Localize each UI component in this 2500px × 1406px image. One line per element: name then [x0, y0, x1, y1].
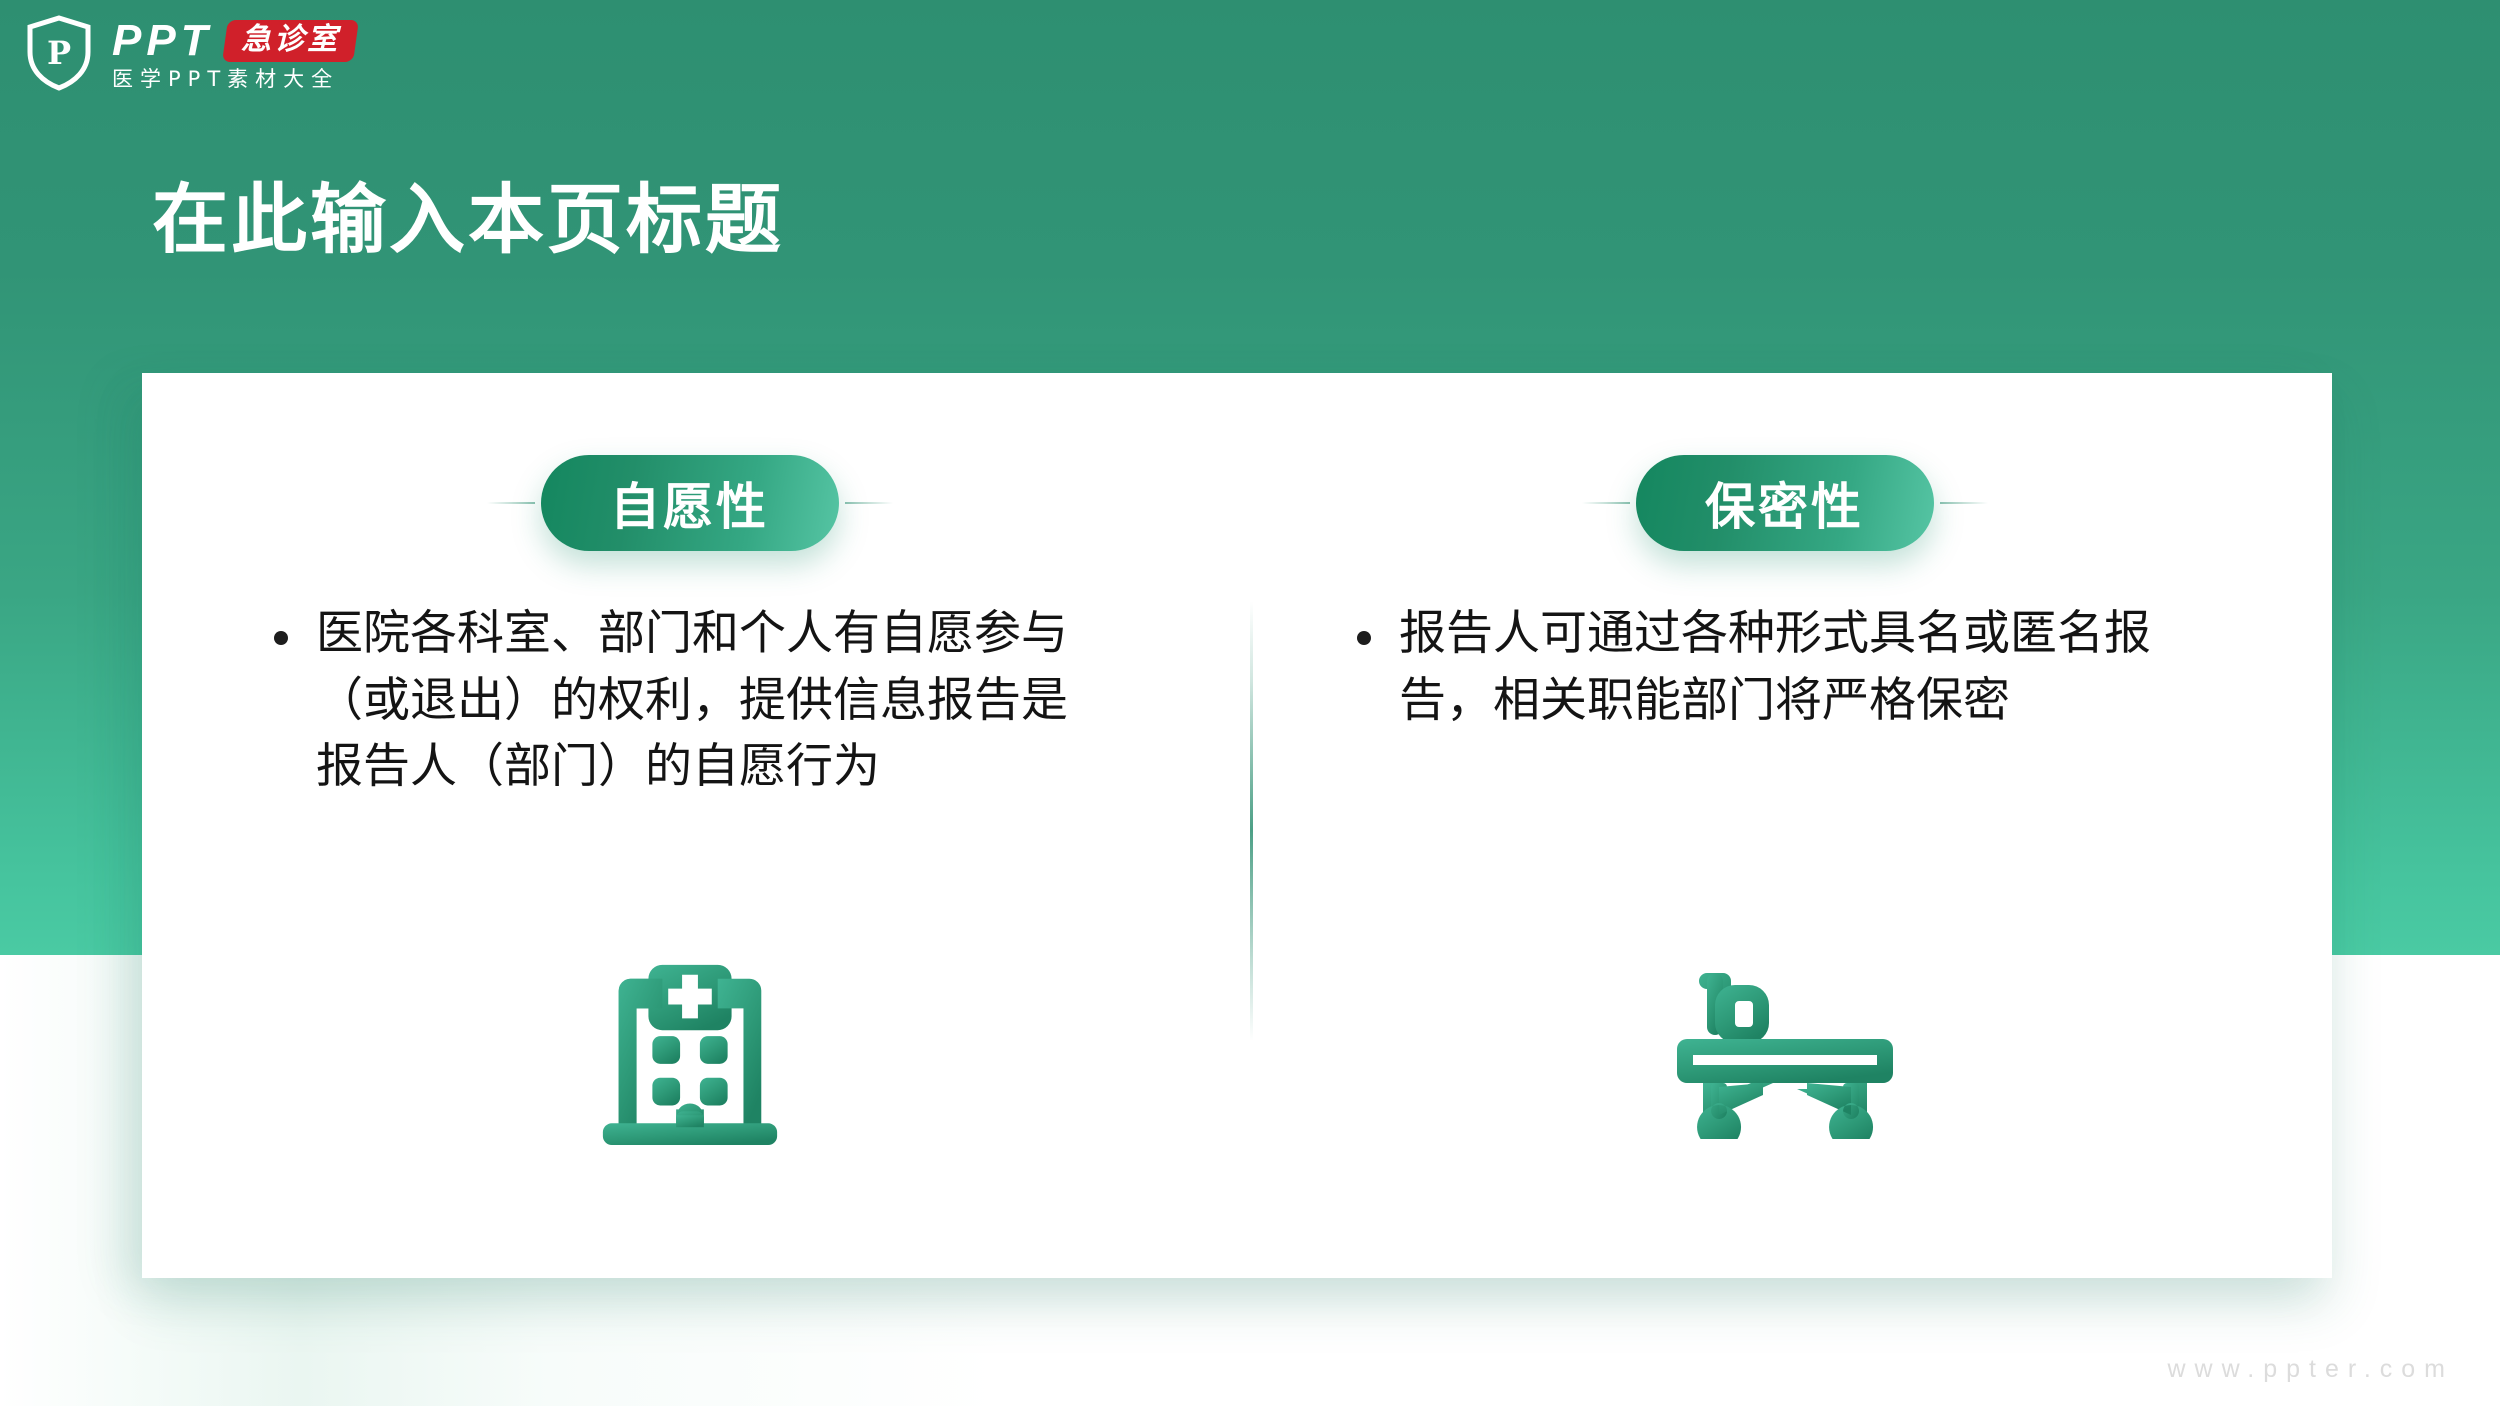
icon-container-left: [142, 951, 1237, 1149]
shield-icon: P: [24, 14, 94, 92]
svg-text:P: P: [47, 34, 71, 72]
bullet-text: 医院各科室、部门和个人有自愿参与（或退出）的权利，提供信息报告是报告人（部门）的…: [316, 601, 1084, 801]
bullet-dot-icon: [1357, 631, 1371, 645]
brand-name: PPT: [112, 19, 213, 63]
pill-label: 保密性: [1705, 467, 1864, 539]
content-card: 自愿性 医院各科室、部门和个人有自愿参与（或退出）的权利，提供信息报告是报告人（…: [142, 373, 2332, 1278]
pill-label: 自愿性: [610, 467, 769, 539]
bullet-dot-icon: [274, 631, 288, 645]
footer-website-url: www.ppter.com: [2167, 1355, 2454, 1384]
bullet-item-confidentiality: 报告人可通过各种形式具名或匿名报告，相关职能部门将严格保密: [1357, 601, 2167, 734]
column-voluntariness: 自愿性 医院各科室、部门和个人有自愿参与（或退出）的权利，提供信息报告是报告人（…: [142, 373, 1237, 1278]
pill-badge-voluntariness[interactable]: 自愿性: [541, 455, 839, 551]
brand-badge-label: 急诊室: [241, 25, 340, 55]
hospital-building-icon: [591, 951, 789, 1149]
pill-line-right: [845, 502, 893, 504]
columns-container: 自愿性 医院各科室、部门和个人有自愿参与（或退出）的权利，提供信息报告是报告人（…: [142, 373, 2332, 1278]
icon-container-right: [1237, 963, 2332, 1139]
pill-badge-confidentiality[interactable]: 保密性: [1636, 455, 1934, 551]
pill-line-right: [1940, 502, 1988, 504]
column-confidentiality: 保密性 报告人可通过各种形式具名或匿名报告，相关职能部门将严格保密: [1237, 373, 2332, 1278]
pill-heading-left: 自愿性: [142, 455, 1237, 551]
page-title: 在此输入本页标题: [152, 178, 784, 262]
pill-line-left: [1582, 502, 1630, 504]
bullet-text: 报告人可通过各种形式具名或匿名报告，相关职能部门将严格保密: [1399, 601, 2167, 734]
brand-logo[interactable]: P PPT 急诊室 医学PPT素材大全: [24, 14, 356, 92]
bullet-item-voluntariness: 医院各科室、部门和个人有自愿参与（或退出）的权利，提供信息报告是报告人（部门）的…: [274, 601, 1084, 801]
slide-root: P PPT 急诊室 医学PPT素材大全 在此输入本页标题 自愿性: [0, 0, 2500, 1406]
pill-line-left: [487, 502, 535, 504]
hospital-stretcher-icon: [1673, 963, 1897, 1139]
brand-badge: 急诊室: [222, 20, 359, 62]
brand-tagline: 医学PPT素材大全: [112, 69, 356, 90]
pill-heading-right: 保密性: [1237, 455, 2332, 551]
